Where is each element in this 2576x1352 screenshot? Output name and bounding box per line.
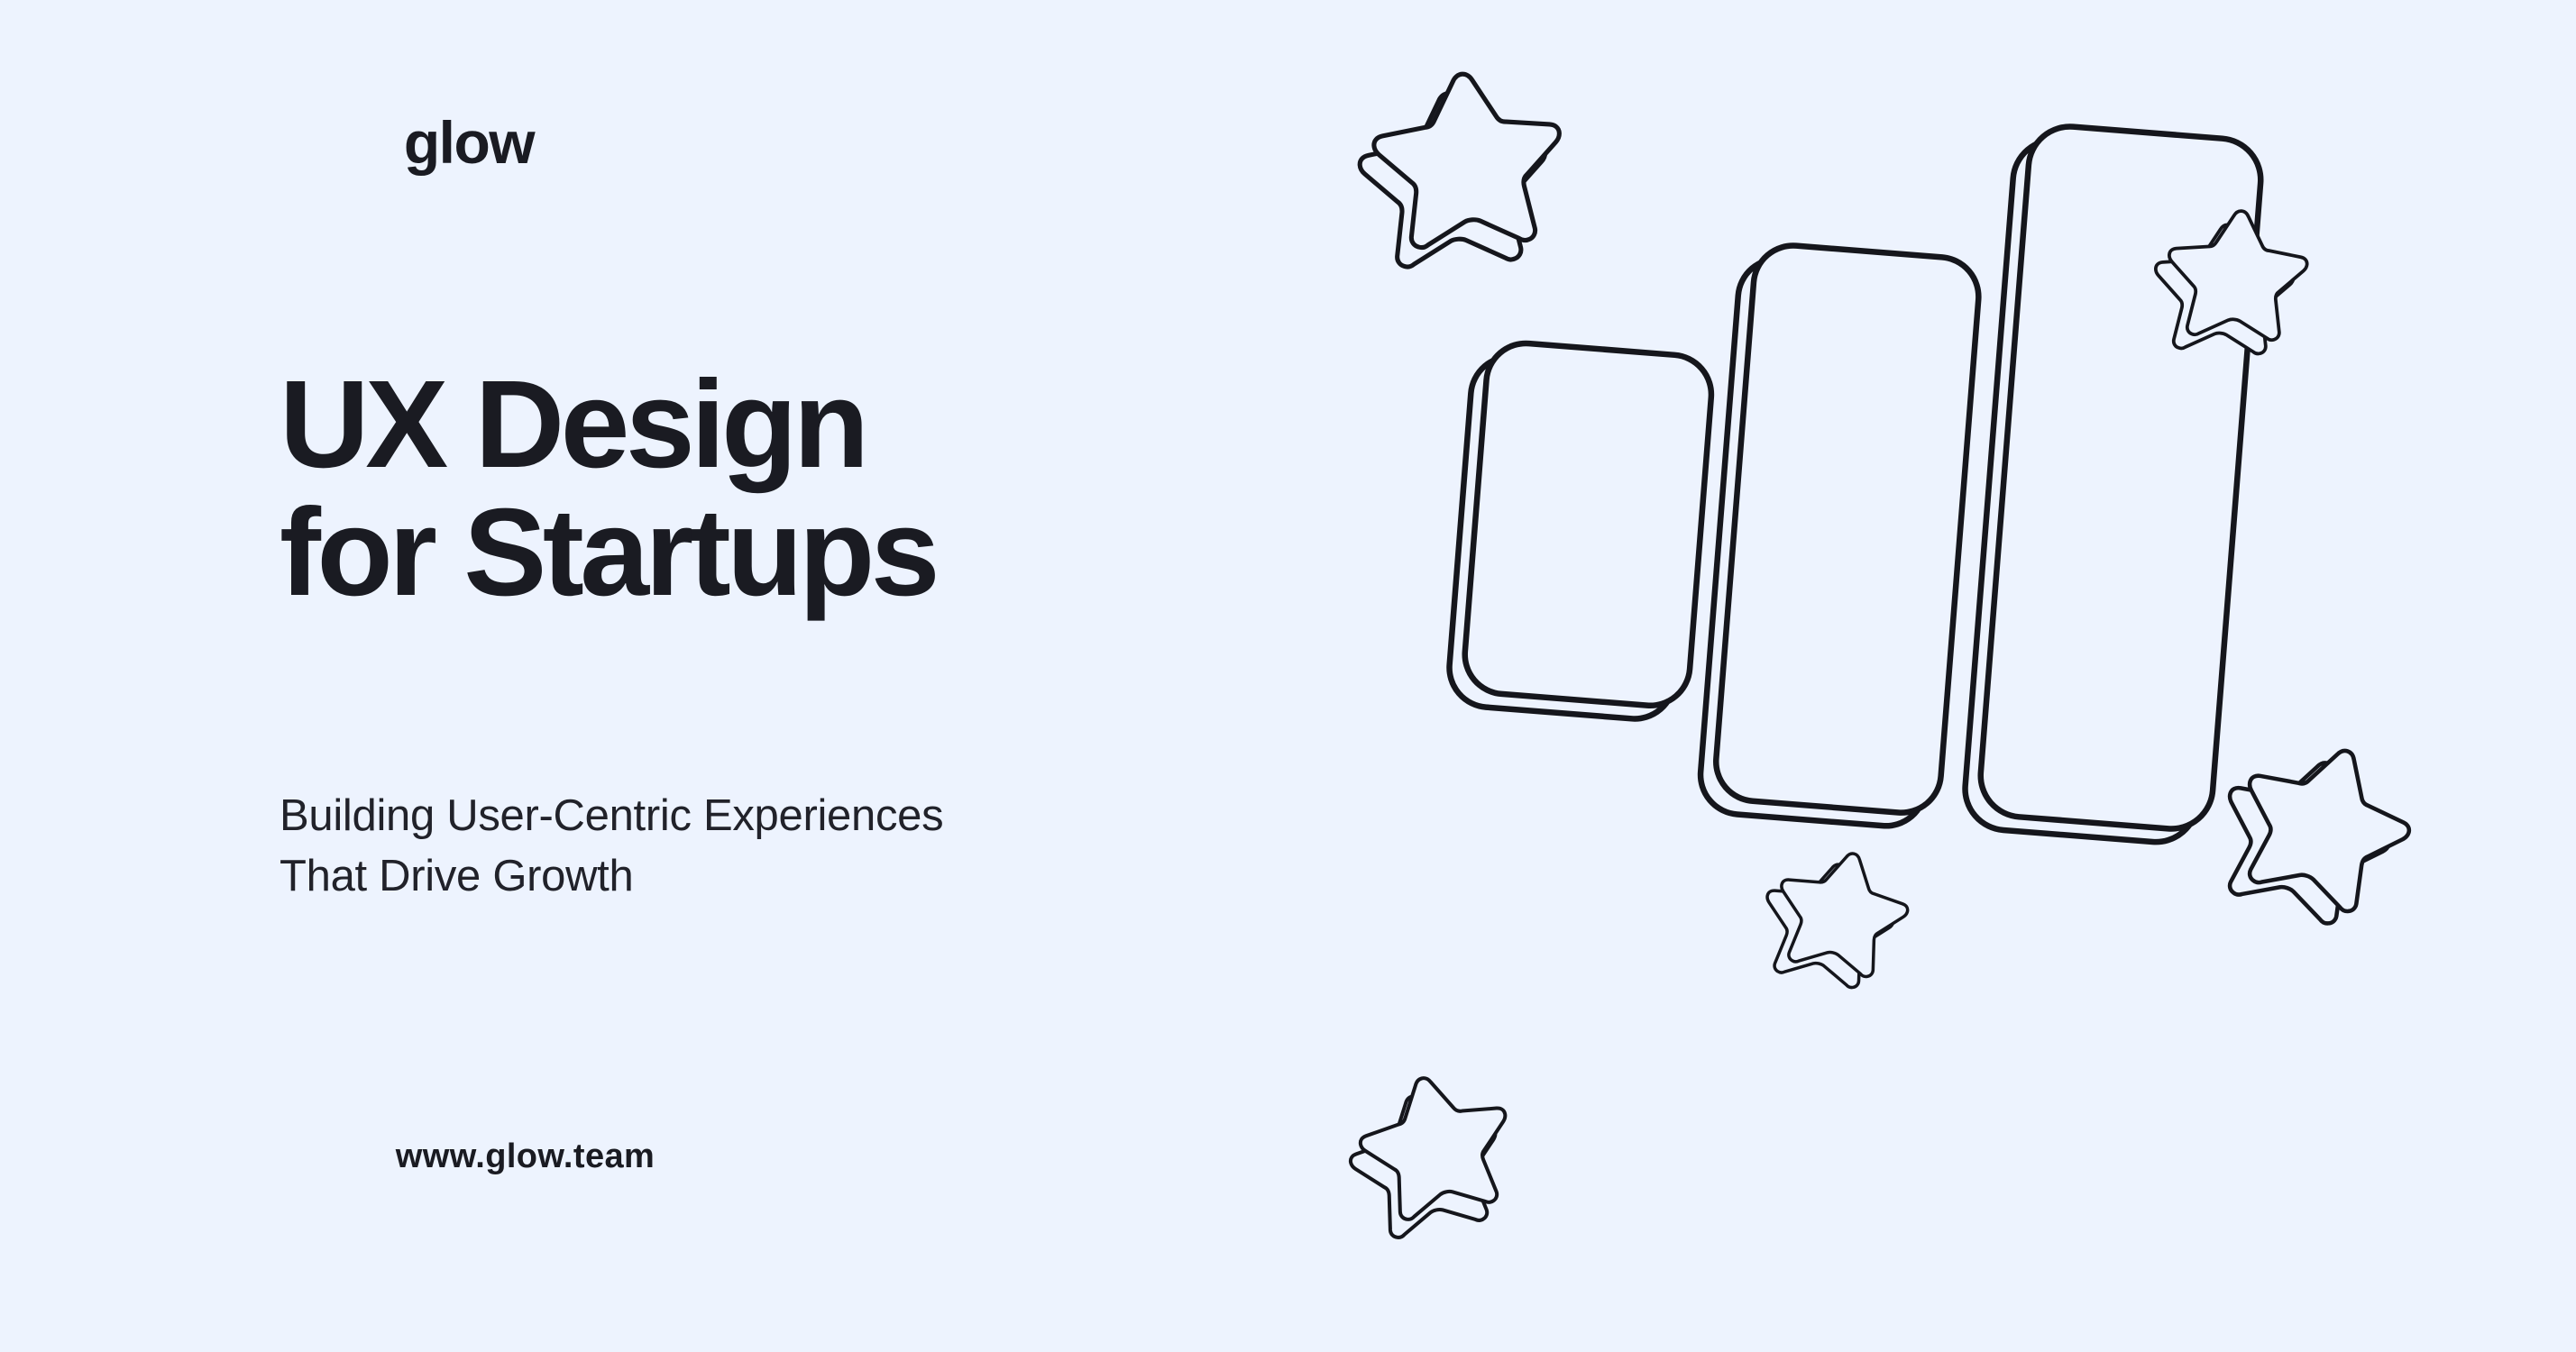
page-subtitle: Building User-Centric Experiences That D… <box>280 786 1289 906</box>
text-column: glow UX Design for Startups Building Use… <box>0 0 1289 1352</box>
star-top-left-icon <box>1354 68 1568 269</box>
star-mid-right-icon <box>2201 721 2426 939</box>
headline-line-1: UX Design <box>280 361 1289 489</box>
bar-short-face <box>1462 341 1714 708</box>
bar-medium-face <box>1713 242 1982 816</box>
growth-chart-illustration <box>1287 0 2576 1352</box>
page-title: UX Design for Startups <box>280 361 1289 617</box>
bar-short <box>1446 339 1714 723</box>
subtitle-line-1: Building User-Centric Experiences <box>280 786 1289 846</box>
star-mid-left-icon <box>1753 838 1917 996</box>
subtitle-line-2: That Drive Growth <box>280 846 1289 907</box>
star-bottom-left-icon <box>1337 1063 1526 1244</box>
brand-logo: glow <box>0 113 938 172</box>
website-url[interactable]: www.glow.team <box>0 1139 1050 1174</box>
bar-medium <box>1698 242 1982 830</box>
headline-line-2: for Startups <box>280 489 1289 617</box>
slide-canvas: glow UX Design for Startups Building Use… <box>0 0 2576 1352</box>
